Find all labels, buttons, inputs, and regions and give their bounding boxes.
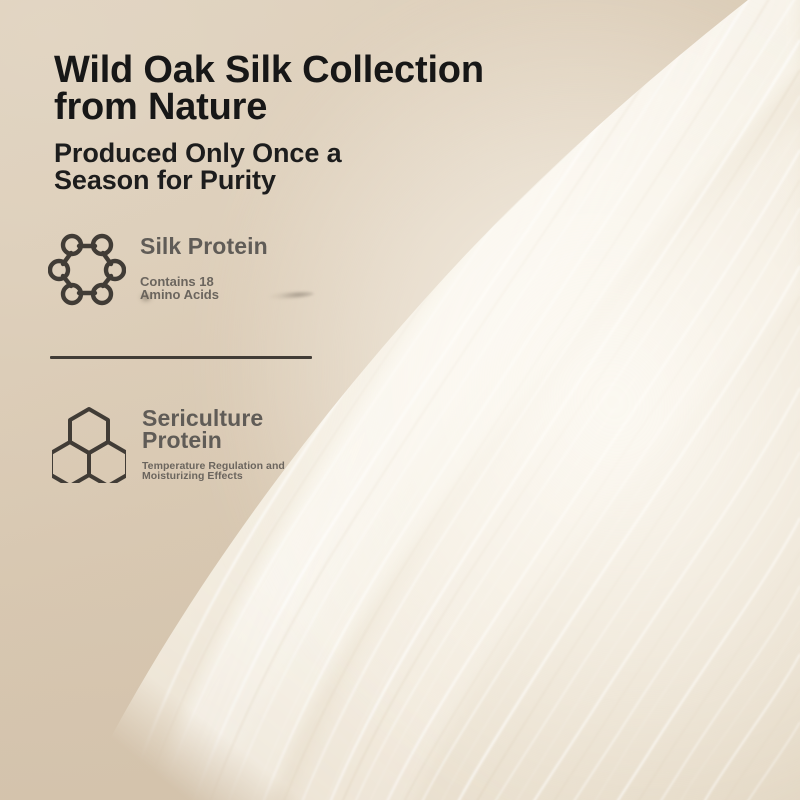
- section-divider: [50, 356, 312, 359]
- feature-subtitle: Temperature Regulation and Moisturizing …: [142, 461, 285, 482]
- feature-text-block: Silk Protein Contains 18 Amino Acids: [140, 228, 268, 301]
- peptide-ring-icon: [48, 228, 126, 310]
- feature-item-sericulture-protein: Sericulture Protein Temperature Regulati…: [52, 405, 285, 483]
- product-banner: Wild Oak Silk Collection from Nature Pro…: [0, 0, 800, 800]
- feature-item-silk-protein: Silk Protein Contains 18 Amino Acids: [48, 228, 268, 310]
- texture-smudge-small: [138, 291, 154, 304]
- feature-title: Silk Protein: [140, 236, 268, 258]
- page-subtitle: Produced Only Once a Season for Purity: [54, 140, 524, 194]
- content-column: Wild Oak Silk Collection from Nature Pro…: [0, 0, 600, 800]
- texture-smudge: [262, 290, 314, 301]
- feature-text-block: Sericulture Protein Temperature Regulati…: [142, 405, 285, 482]
- feature-title: Sericulture Protein: [142, 408, 285, 452]
- honeycomb-hexagons-icon: [52, 405, 126, 483]
- page-title: Wild Oak Silk Collection from Nature: [54, 52, 574, 126]
- feature-subtitle: Contains 18 Amino Acids: [140, 275, 268, 302]
